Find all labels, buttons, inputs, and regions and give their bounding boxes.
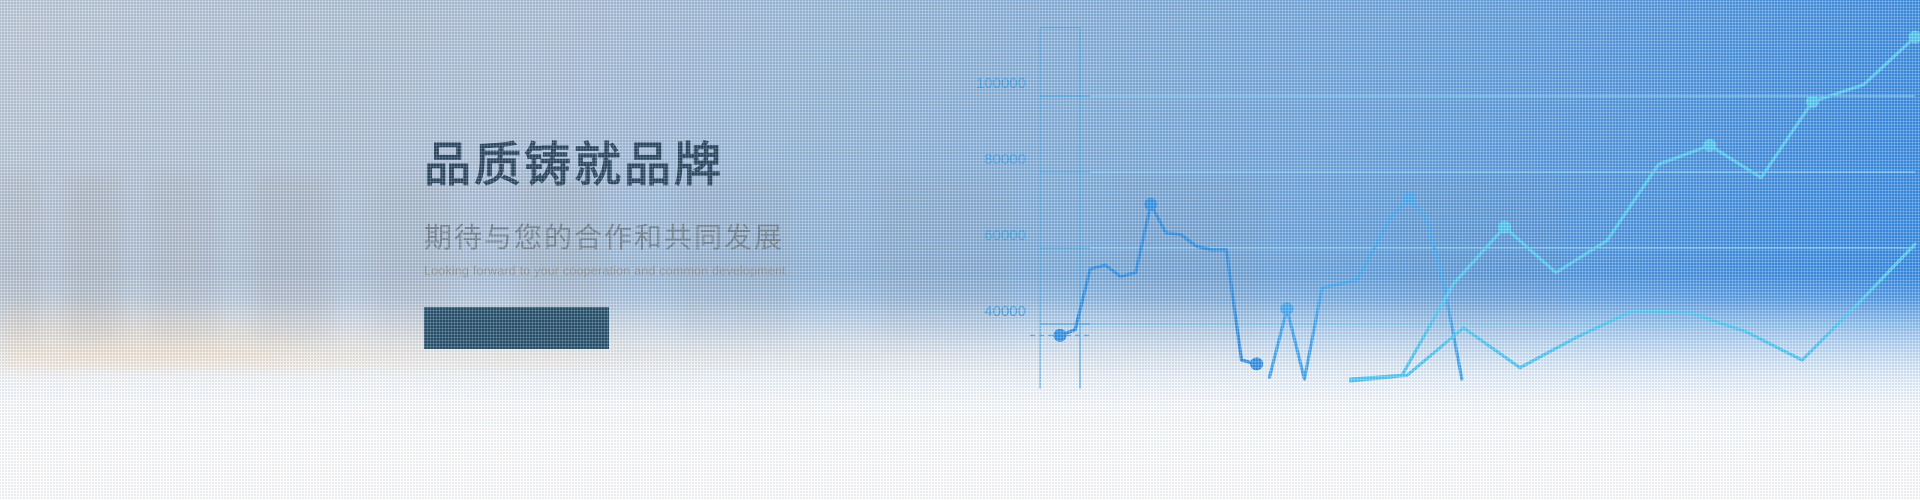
chart-y-tick-labels: 400006000080000100000	[976, 75, 1026, 320]
chart-point-marker	[1054, 329, 1067, 342]
y-tick-label: 100000	[976, 75, 1026, 92]
chart-point-marker	[1144, 198, 1157, 211]
chart-markers-group	[1054, 31, 1920, 371]
banner-subtitle-english: Looking forward to your cooperation and …	[424, 264, 884, 279]
chart-line-series-4	[1351, 244, 1915, 381]
line-chart: 400006000080000100000	[930, 0, 1920, 440]
chart-series-group	[1060, 37, 1915, 381]
line-chart-svg: 400006000080000100000	[930, 0, 1920, 440]
hero-banner: 品质铸就品牌 期待与您的合作和共同发展 Looking forward to y…	[0, 0, 1920, 500]
chart-point-marker	[1280, 302, 1293, 315]
y-tick-label: 80000	[984, 151, 1026, 168]
chart-point-marker	[1806, 95, 1819, 108]
chart-point-marker	[1250, 357, 1263, 370]
y-tick-label: 60000	[984, 227, 1026, 244]
y-tick-label: 40000	[984, 303, 1026, 320]
banner-title: 品质铸就品牌	[424, 140, 884, 189]
chart-point-marker	[1703, 139, 1716, 152]
banner-cta-button[interactable]	[424, 307, 609, 349]
chart-point-marker	[1498, 221, 1511, 234]
banner-copy: 品质铸就品牌 期待与您的合作和共同发展 Looking forward to y…	[424, 140, 884, 349]
chart-line-series-1	[1060, 204, 1257, 364]
chart-gridlines	[1080, 96, 1915, 324]
chart-point-marker	[1403, 192, 1416, 205]
banner-subtitle: 期待与您的合作和共同发展	[424, 223, 884, 254]
chart-line-series-3	[1351, 37, 1915, 379]
